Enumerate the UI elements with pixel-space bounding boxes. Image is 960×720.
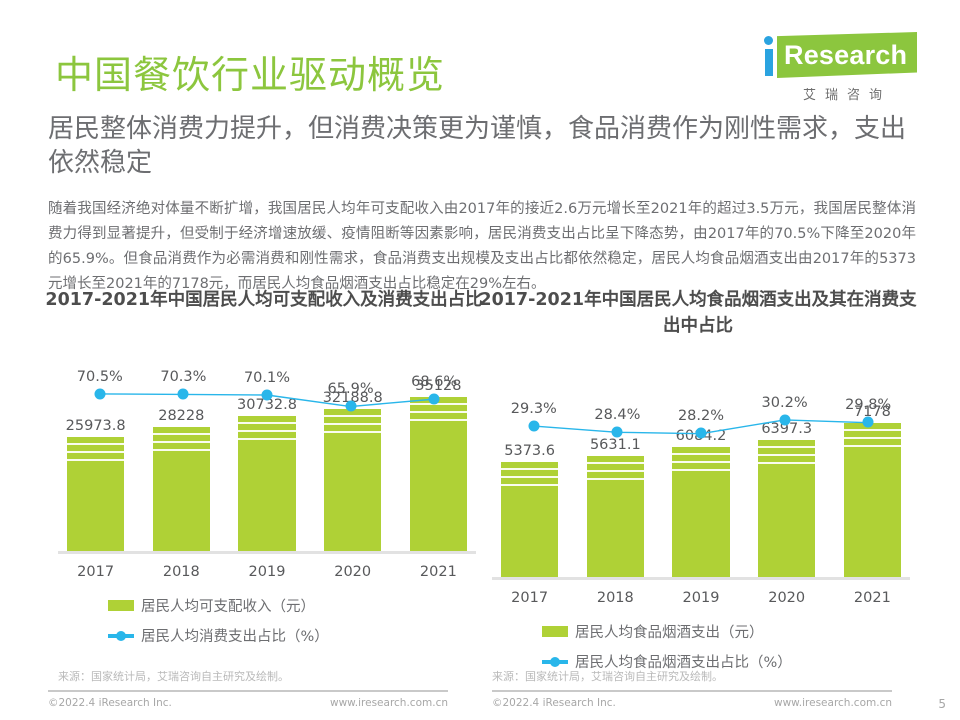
bar-gridline-stripe bbox=[410, 419, 467, 421]
chart-source-note: 来源：国家统计局，艾瑞咨询自主研究及绘制。 bbox=[58, 668, 289, 684]
x-axis-label: 2017 bbox=[492, 583, 567, 613]
footer-divider bbox=[48, 690, 448, 692]
logo-chinese-name: 艾瑞咨询 bbox=[772, 84, 922, 103]
bar[interactable] bbox=[587, 456, 644, 577]
page-title: 中国餐饮行业驱动概览 bbox=[55, 44, 445, 99]
legend-item-line[interactable]: 居民人均消费支出占比（%） bbox=[108, 621, 484, 651]
legend-item-bar[interactable]: 居民人均食品烟酒支出（元） bbox=[542, 617, 918, 647]
bar-gridline-stripe bbox=[672, 453, 729, 455]
bar[interactable] bbox=[67, 437, 124, 551]
x-axis-line bbox=[492, 577, 910, 580]
bar-gridline-stripe bbox=[844, 429, 901, 431]
bar-gridline-stripe bbox=[67, 459, 124, 461]
x-axis-labels: 20172018201920202021 bbox=[58, 557, 476, 587]
bar-gridline-stripe bbox=[587, 462, 644, 464]
bar-gridline-stripe bbox=[410, 411, 467, 413]
bar-group: 25973.82822830732.832188.835128 bbox=[58, 384, 476, 551]
chart-plot-area: 5373.65631.16084.26397.37178 29.3%28.4%2… bbox=[478, 348, 918, 613]
legend-line-swatch-icon bbox=[108, 630, 134, 641]
x-axis-label: 2018 bbox=[144, 557, 219, 587]
footer-website[interactable]: www.iresearch.com.cn bbox=[330, 697, 448, 709]
bar-slot: 32188.8 bbox=[315, 384, 390, 551]
x-axis-label: 2021 bbox=[835, 583, 910, 613]
bar-value-label: 7178 bbox=[816, 404, 929, 420]
bar-gridline-stripe bbox=[153, 441, 210, 443]
chart-source-note: 来源：国家统计局，艾瑞咨询自主研究及绘制。 bbox=[492, 668, 723, 684]
bar-slot: 6397.3 bbox=[749, 410, 824, 577]
chart-panel-income: 2017-2021年中国居民人均可支配收入及消费支出占比 25973.82822… bbox=[44, 288, 484, 684]
logo-i-dot-icon bbox=[764, 36, 773, 45]
x-axis-labels: 20172018201920202021 bbox=[492, 583, 910, 613]
bar-value-label: 6397.3 bbox=[730, 421, 843, 437]
page-number: 5 bbox=[938, 697, 946, 711]
bar-slot: 6084.2 bbox=[663, 410, 738, 577]
legend-label: 居民人均消费支出占比（%） bbox=[141, 625, 329, 646]
page-subtitle: 居民整体消费力提升，但消费决策更为谨慎，食品消费作为刚性需求，支出依然稳定 bbox=[48, 112, 918, 181]
logo-mark: Research bbox=[760, 30, 920, 82]
bar-slot: 7178 bbox=[835, 410, 910, 577]
bar-gridline-stripe bbox=[153, 433, 210, 435]
bar-group: 5373.65631.16084.26397.37178 bbox=[492, 410, 910, 577]
bar-gridline-stripe bbox=[587, 478, 644, 480]
bar-gridline-stripe bbox=[238, 438, 295, 440]
bar[interactable] bbox=[758, 440, 815, 577]
x-axis-label: 2020 bbox=[749, 583, 824, 613]
x-axis-label: 2019 bbox=[663, 583, 738, 613]
bar-slot: 25973.8 bbox=[58, 384, 133, 551]
bar-gridline-stripe bbox=[672, 469, 729, 471]
footer-copyright: ©2022.4 iResearch Inc. bbox=[492, 697, 616, 709]
bar-gridline-stripe bbox=[501, 484, 558, 486]
bar-gridline-stripe bbox=[324, 431, 381, 433]
bar-gridline-stripe bbox=[324, 423, 381, 425]
bar[interactable] bbox=[672, 447, 729, 577]
footer-website[interactable]: www.iresearch.com.cn bbox=[774, 697, 892, 709]
bar-gridline-stripe bbox=[758, 446, 815, 448]
chart-title: 2017-2021年中国居民人均食品烟酒支出及其在消费支出中占比 bbox=[478, 288, 918, 340]
iresearch-logo: Research 艾瑞咨询 bbox=[760, 30, 920, 108]
legend-line-swatch-icon bbox=[542, 656, 568, 667]
bar-slot: 30732.8 bbox=[229, 384, 304, 551]
bar-slot: 28228 bbox=[144, 384, 219, 551]
chart-title: 2017-2021年中国居民人均可支配收入及消费支出占比 bbox=[44, 288, 484, 314]
bar-gridline-stripe bbox=[238, 422, 295, 424]
logo-i-stem-icon bbox=[765, 49, 773, 76]
bar[interactable] bbox=[501, 462, 558, 577]
x-axis-line bbox=[58, 551, 476, 554]
line-value-label: 30.2% bbox=[762, 395, 808, 411]
bar-gridline-stripe bbox=[844, 437, 901, 439]
footer-copyright: ©2022.4 iResearch Inc. bbox=[48, 697, 172, 709]
footer-block-right: ©2022.4 iResearch Inc. www.iresearch.com… bbox=[492, 690, 892, 716]
bar[interactable] bbox=[410, 397, 467, 551]
footer-divider bbox=[492, 690, 892, 692]
x-axis-label: 2019 bbox=[229, 557, 304, 587]
slide-page: Research 艾瑞咨询 中国餐饮行业驱动概览 居民整体消费力提升，但消费决策… bbox=[0, 0, 960, 720]
x-axis-label: 2018 bbox=[578, 583, 653, 613]
bar-gridline-stripe bbox=[758, 462, 815, 464]
bar-gridline-stripe bbox=[153, 449, 210, 451]
bar-gridline-stripe bbox=[501, 468, 558, 470]
legend-label: 居民人均可支配收入（元） bbox=[141, 595, 315, 616]
line-value-label: 70.5% bbox=[77, 369, 123, 385]
chart-legend: 居民人均可支配收入（元） 居民人均消费支出占比（%） bbox=[44, 591, 484, 651]
footer-block-left: ©2022.4 iResearch Inc. www.iresearch.com… bbox=[48, 690, 448, 716]
bar-gridline-stripe bbox=[587, 470, 644, 472]
bar-gridline-stripe bbox=[324, 415, 381, 417]
bar[interactable] bbox=[324, 409, 381, 550]
x-axis-label: 2020 bbox=[315, 557, 390, 587]
bar-gridline-stripe bbox=[238, 430, 295, 432]
bar-gridline-stripe bbox=[410, 403, 467, 405]
legend-label: 居民人均食品烟酒支出（元） bbox=[575, 621, 764, 642]
bar-gridline-stripe bbox=[67, 443, 124, 445]
legend-bar-swatch-icon bbox=[108, 600, 134, 611]
body-paragraph: 随着我国经济绝对体量不断扩增，我国居民人均年可支配收入由2017年的接近2.6万… bbox=[48, 197, 916, 297]
bar-slot: 5373.6 bbox=[492, 410, 567, 577]
page-footer: ©2022.4 iResearch Inc. www.iresearch.com… bbox=[0, 690, 960, 720]
bar-gridline-stripe bbox=[501, 476, 558, 478]
legend-item-bar[interactable]: 居民人均可支配收入（元） bbox=[108, 591, 484, 621]
bar-gridline-stripe bbox=[844, 445, 901, 447]
logo-wordmark: Research bbox=[784, 40, 907, 71]
bar-slot: 35128 bbox=[401, 384, 476, 551]
x-axis-label: 2017 bbox=[58, 557, 133, 587]
bar[interactable] bbox=[238, 416, 295, 551]
bar[interactable] bbox=[153, 427, 210, 551]
chart-panel-food: 2017-2021年中国居民人均食品烟酒支出及其在消费支出中占比 5373.65… bbox=[478, 288, 918, 684]
bar-gridline-stripe bbox=[672, 461, 729, 463]
bar-gridline-stripe bbox=[758, 454, 815, 456]
bar[interactable] bbox=[844, 423, 901, 577]
bar-gridline-stripe bbox=[67, 451, 124, 453]
legend-bar-swatch-icon bbox=[542, 626, 568, 637]
x-axis-label: 2021 bbox=[401, 557, 476, 587]
chart-plot-area: 25973.82822830732.832188.835128 70.5%70.… bbox=[44, 322, 484, 587]
bar-slot: 5631.1 bbox=[578, 410, 653, 577]
